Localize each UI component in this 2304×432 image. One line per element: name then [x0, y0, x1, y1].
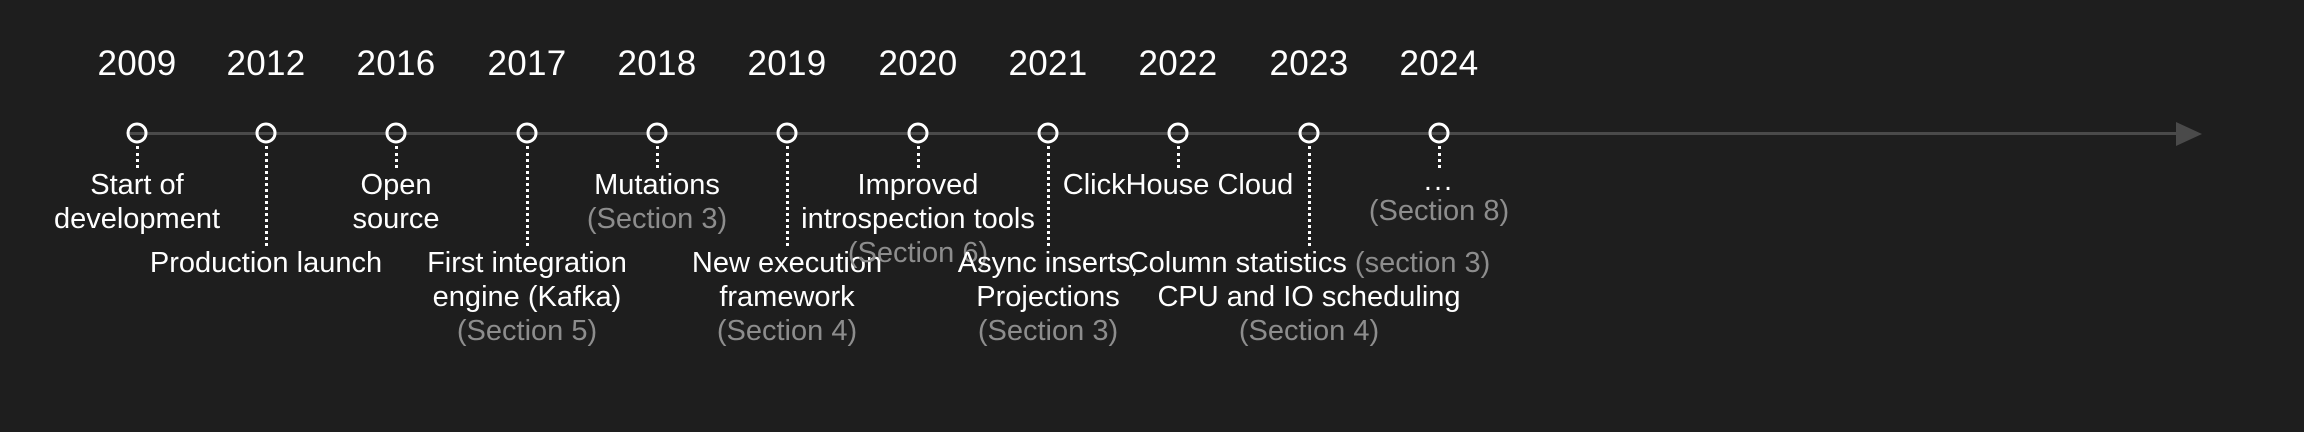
event-marker-circle-icon[interactable] — [386, 123, 407, 144]
event-marker-circle-icon[interactable] — [647, 123, 668, 144]
event-label: ...(Section 8) — [1369, 168, 1509, 228]
event-year-label: 2018 — [617, 44, 696, 84]
event-marker-circle-icon[interactable] — [1038, 123, 1059, 144]
event-label-line: First integration — [427, 246, 627, 280]
event-year-label: 2009 — [97, 44, 176, 84]
event-year-label: 2017 — [487, 44, 566, 84]
event-marker-circle-icon[interactable] — [127, 123, 148, 144]
event-inline-section-ref: (section 3) — [1355, 247, 1490, 279]
event-section-ref: (Section 4) — [692, 314, 882, 348]
event-year-label: 2022 — [1138, 44, 1217, 84]
event-marker-circle-icon[interactable] — [777, 123, 798, 144]
event-marker-circle-icon[interactable] — [1168, 123, 1189, 144]
event-label: Column statistics (section 3)CPU and IO … — [1128, 246, 1491, 348]
event-label-line: development — [54, 202, 220, 236]
event-label: ClickHouse Cloud — [1063, 168, 1294, 202]
event-connector-line — [1308, 146, 1311, 246]
event-label-line: Projections — [958, 280, 1139, 314]
event-connector-line — [656, 146, 659, 168]
event-year-label: 2023 — [1269, 44, 1348, 84]
event-label: Async inserts,Projections(Section 3) — [958, 246, 1139, 348]
event-connector-line — [265, 146, 268, 246]
event-label-line: Production launch — [150, 246, 382, 280]
event-connector-line — [136, 146, 139, 168]
event-connector-line — [1177, 146, 1180, 168]
event-section-ref: (Section 3) — [587, 202, 727, 236]
event-year-label: 2019 — [747, 44, 826, 84]
event-section-ref: (Section 4) — [1128, 314, 1491, 348]
event-year-label: 2021 — [1008, 44, 1087, 84]
event-label-line: framework — [692, 280, 882, 314]
event-marker-circle-icon[interactable] — [1299, 123, 1320, 144]
event-label-line: Column statistics (section 3) — [1128, 246, 1491, 280]
event-section-ref: (Section 8) — [1369, 194, 1509, 228]
event-label: Mutations(Section 3) — [587, 168, 727, 236]
event-label: Start ofdevelopment — [54, 168, 220, 236]
event-marker-circle-icon[interactable] — [517, 123, 538, 144]
event-label-line: Improved — [801, 168, 1035, 202]
event-label: Opensource — [352, 168, 439, 236]
event-label-line: source — [352, 202, 439, 236]
event-label-line: introspection tools — [801, 202, 1035, 236]
timeline-arrow-icon — [2176, 122, 2202, 146]
event-marker-circle-icon[interactable] — [256, 123, 277, 144]
event-label-line: ... — [1369, 168, 1509, 194]
event-connector-line — [786, 146, 789, 246]
event-label-line: engine (Kafka) — [427, 280, 627, 314]
event-label: First integrationengine (Kafka)(Section … — [427, 246, 627, 348]
event-year-label: 2016 — [356, 44, 435, 84]
event-year-label: 2020 — [878, 44, 957, 84]
event-label-line: ClickHouse Cloud — [1063, 168, 1294, 202]
event-year-label: 2024 — [1399, 44, 1478, 84]
event-label-line: CPU and IO scheduling — [1128, 280, 1491, 314]
event-section-ref: (Section 3) — [958, 314, 1139, 348]
timeline-figure: 2009Start ofdevelopment2012Production la… — [0, 0, 2304, 432]
event-label-line: Mutations — [587, 168, 727, 202]
timeline-axis-line — [128, 132, 2178, 135]
event-label-line: Start of — [54, 168, 220, 202]
event-connector-line — [917, 146, 920, 168]
event-year-label: 2012 — [226, 44, 305, 84]
event-connector-line — [395, 146, 398, 168]
event-marker-circle-icon[interactable] — [1429, 123, 1450, 144]
event-label-line: Open — [352, 168, 439, 202]
event-section-ref: (Section 5) — [427, 314, 627, 348]
event-label: Production launch — [150, 246, 382, 280]
event-connector-line — [526, 146, 529, 246]
event-marker-circle-icon[interactable] — [908, 123, 929, 144]
event-label-line: Async inserts, — [958, 246, 1139, 280]
event-connector-line — [1047, 146, 1050, 246]
